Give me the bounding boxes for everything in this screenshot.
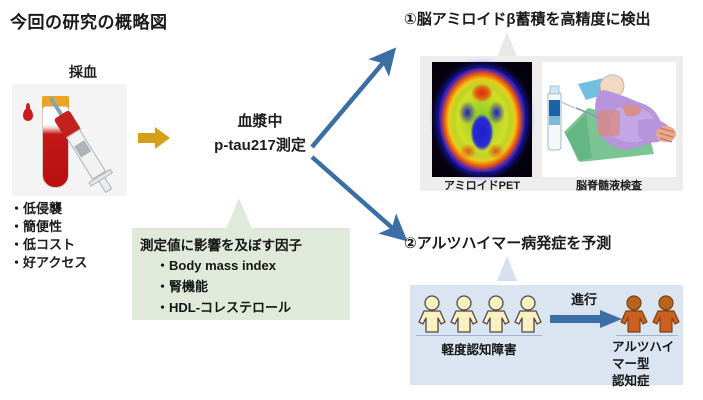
arrow-to-outcome2 [312,157,398,233]
arrow-to-outcome1 [312,57,388,147]
list-item: ・好アクセス [10,254,87,272]
branching-arrows [310,35,410,250]
person-icon [620,295,648,333]
mci-person-group [418,295,548,333]
lumbar-puncture-drawing [542,62,676,177]
outcome2-pointer [497,256,517,281]
factors-callout-pointer [226,198,252,229]
list-item: ・腎機能 [156,276,291,297]
outcome2-panel: 軽度認知障害 進行 アルツハイマー型 認知症 [410,285,683,385]
ad-person-group [620,295,682,333]
blood-draw-label: 採血 [38,62,128,82]
ad-label: アルツハイマー型 認知症 [612,339,684,390]
outcome2-heading: ②アルツハイマー病発症を予測 [404,232,611,253]
person-icon [450,295,478,333]
person-icon [652,295,680,333]
amyloid-pet-brain-scan-icon [432,62,532,177]
factors-title: 測定値に影響を及ぼす因子 [140,234,302,254]
progression-label: 進行 [550,289,618,308]
pet-caption: アミロイドPET [432,177,532,193]
list-item: ・Body mass index [156,255,291,276]
csf-caption: 脳脊髄液検査 [542,177,676,193]
person-icon [514,295,542,333]
list-item: ・低侵襲 [10,200,87,218]
factors-list: ・Body mass index ・腎機能 ・HDL-コレステロール [156,255,291,318]
progression-arrow-icon [550,309,622,329]
diagram-canvas: 今回の研究の概略図 採血 ・低侵襲 ・簡便性 ・低コスト ・好アクセス 血漿中 … [0,0,703,400]
ad-label-line2: 認知症 [612,373,684,390]
blood-drop-icon [23,108,33,121]
pet-brain-image [439,68,525,172]
syringe-rod-icon [98,177,112,193]
mci-label: 軽度認知障害 [416,339,542,358]
mci-underline [416,335,542,336]
lumbar-puncture-illustration-icon [542,62,676,177]
outcome1-pointer [497,32,517,57]
page-title: 今回の研究の概略図 [10,8,168,33]
ad-label-line1: アルツハイマー型 [612,339,684,373]
outcome1-panel: アミロイドPET [420,56,683,191]
list-item: ・低コスト [10,236,87,254]
blood-collection-illustration [12,84,127,196]
benefit-list: ・低侵襲 ・簡便性 ・低コスト ・好アクセス [10,200,87,272]
list-item: ・HDL-コレステロール [156,297,291,318]
person-icon [418,295,446,333]
outcome1-heading: ①脳アミロイドβ蓄積を高精度に検出 [404,8,651,29]
list-item: ・簡便性 [10,218,87,236]
yellow-right-arrow-icon [138,127,170,149]
ad-underline [616,335,678,336]
person-icon [482,295,510,333]
